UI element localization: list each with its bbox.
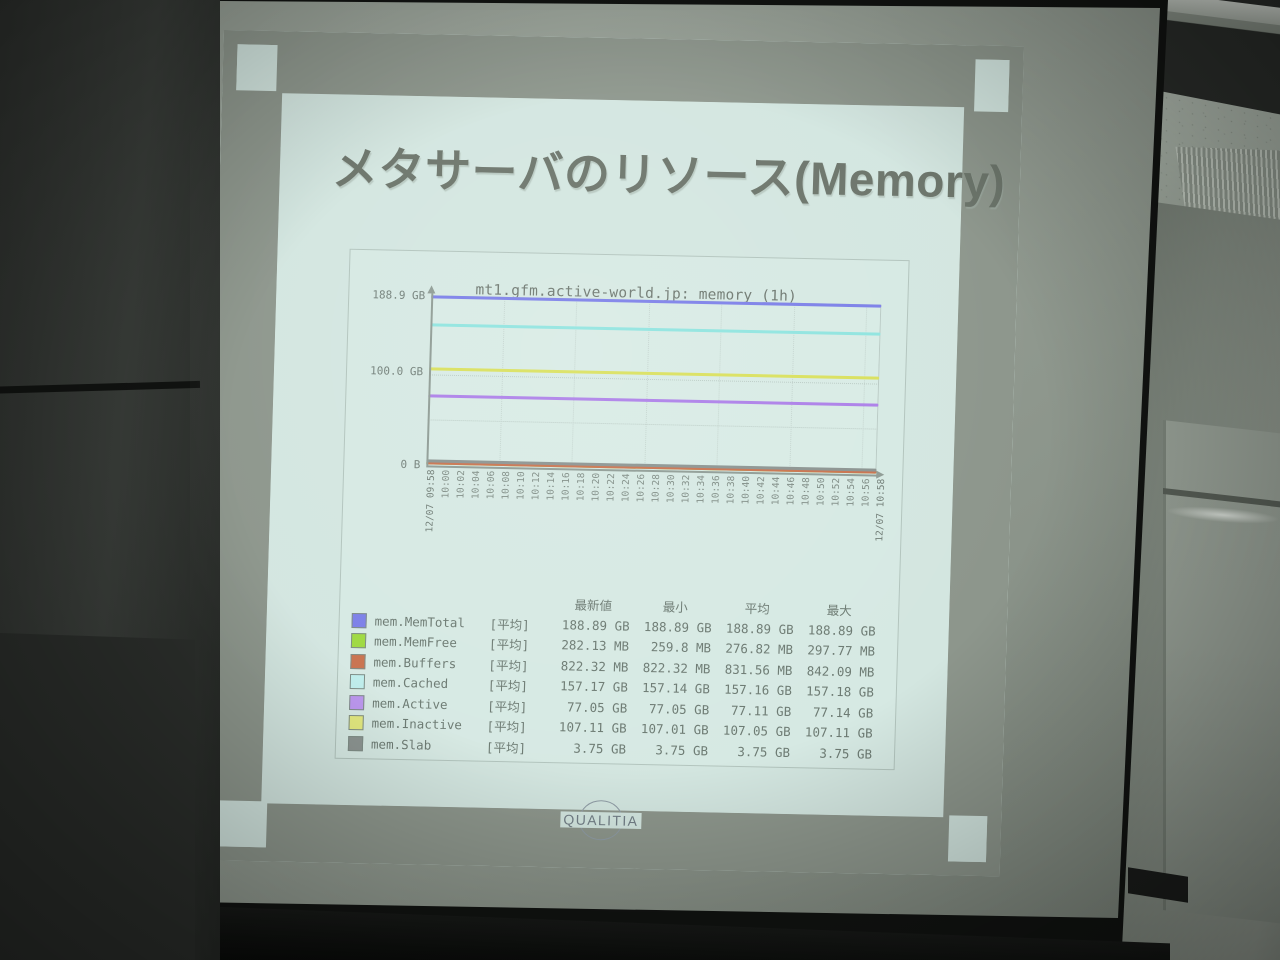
legend-aggregation-label: [平均] [486,716,549,736]
column-header-latest: 最新値 [552,594,635,615]
x-tick-label: 10:02 [455,470,467,499]
legend-series-name: mem.Cached [373,675,488,692]
legend-series-name: mem.Slab [371,736,486,753]
chart-panel: mt1.gfm.active-world.jp: memory (1h) 188… [335,249,910,770]
legend-value-latest: 77.05 GB [549,699,631,716]
legend-value-max: 188.89 GB [797,622,879,639]
legend-aggregation-label: [平均] [489,614,552,634]
x-tick-label: 10:56 [860,478,872,507]
x-axis-arrow-icon [876,471,884,479]
x-tick-label: 12/07 09:58 [424,469,437,532]
legend-value-min: 77.05 GB [631,701,713,718]
y-tick-label: 188.9 GB [372,288,425,302]
x-tick-label: 10:30 [665,474,677,503]
legend-aggregation-label: [平均] [486,737,549,757]
x-tick-label: 10:08 [500,471,512,500]
legend-color-swatch [351,613,366,628]
x-tick-label: 10:28 [650,474,662,503]
x-tick-label: 10:12 [530,472,542,501]
left-wall-panel [0,632,195,960]
x-tick-label: 10:06 [485,471,497,500]
x-tick-label: 10:00 [440,470,452,499]
x-tick-label: 10:40 [740,476,752,505]
plot-background [426,296,880,472]
legend-color-swatch [350,674,365,689]
x-tick-label: 10:14 [545,472,557,501]
x-tick-label: 10:46 [785,477,797,506]
legend-value-max: 77.14 GB [795,704,877,721]
corner-bracket-bottom-left-icon [214,800,267,847]
x-tick-label: 10:44 [770,476,782,505]
y-tick-label: 100.0 GB [370,364,423,378]
x-tick-label: 10:10 [515,471,527,500]
legend-value-max: 297.77 MB [797,642,879,659]
x-tick-label: 10:18 [575,472,587,501]
legend-value-avg: 276.82 MB [715,641,797,658]
column-header-avg: 平均 [716,597,799,618]
legend-value-min: 157.14 GB [632,680,714,697]
x-tick-label: 10:32 [680,475,692,504]
corner-bracket-top-left-icon [236,44,277,91]
legend-value-max: 3.75 GB [794,745,876,762]
legend-value-max: 842.09 MB [796,663,878,680]
legend-series-name: mem.Inactive [371,716,486,733]
column-header-max: 最大 [798,599,881,620]
page-title: メタサーバのリソース(Memory) [331,132,973,211]
legend-value-min: 822.32 MB [632,660,714,677]
legend-aggregation-label: [平均] [488,675,551,695]
x-tick-label: 10:26 [635,474,647,503]
x-tick-label: 10:36 [710,475,722,504]
legend-color-swatch [348,715,363,730]
legend-value-min: 3.75 GB [630,742,712,759]
legend-value-min: 259.8 MB [633,639,715,656]
legend-value-min: 107.01 GB [630,721,712,738]
legend-value-avg: 107.05 GB [712,723,794,740]
legend-color-swatch [348,736,363,751]
legend-aggregation-label: [平均] [489,634,552,654]
legend-value-latest: 188.89 GB [551,617,633,634]
x-tick-label: 10:04 [470,470,482,499]
x-tick-label: 10:22 [605,473,617,502]
x-tick-label: 10:54 [845,478,857,507]
legend-value-latest: 822.32 MB [550,658,632,675]
legend-table: 最新値 最小 平均 最大 mem.MemTotal[平均]188.89 GB18… [348,590,881,764]
legend-color-swatch [350,654,365,669]
y-axis-labels: 188.9 GB 100.0 GB 0 B [352,282,426,483]
legend-value-avg: 77.11 GB [713,702,795,719]
legend-series-name: mem.Buffers [373,654,488,671]
legend-value-latest: 107.11 GB [548,719,630,736]
legend-color-swatch [349,695,364,710]
legend-value-max: 107.11 GB [794,724,876,741]
legend-value-latest: 157.17 GB [550,678,632,695]
logo-text: QUALITIA [560,811,641,829]
x-tick-label: 10:34 [695,475,707,504]
legend-series-name: mem.MemTotal [374,613,489,630]
legend-series-name: mem.MemFree [374,634,489,651]
x-tick-label: 10:52 [830,478,842,507]
room-photo: メタサーバのリソース(Memory) mt1.gfm.active-world.… [0,0,1280,960]
legend-value-latest: 282.13 MB [551,637,633,654]
y-tick-label: 0 B [400,458,420,471]
column-header-min: 最小 [634,596,717,617]
x-tick-label: 12/07 10:58 [874,479,887,542]
legend-value-max: 157.18 GB [796,683,878,700]
x-tick-label: 10:16 [560,472,572,501]
legend-aggregation-label: [平均] [488,655,551,675]
legend-value-avg: 188.89 GB [715,620,797,637]
corner-bracket-top-right-icon [974,59,1010,112]
plot-area [426,295,881,472]
x-tick-label: 10:50 [815,477,827,506]
x-axis-labels: 12/07 09:5810:0010:0210:0410:0610:0810:1… [423,469,886,588]
legend-value-latest: 3.75 GB [548,740,630,757]
memory-line-chart: mt1.gfm.active-world.jp: memory (1h) 188… [349,282,902,593]
x-tick-label: 10:42 [755,476,767,505]
x-tick-label: 10:48 [800,477,812,506]
legend-value-avg: 157.16 GB [714,682,796,699]
y-axis-arrow-icon [427,285,435,293]
x-tick-label: 10:24 [620,473,632,502]
legend-value-min: 188.89 GB [633,619,715,636]
x-tick-label: 10:20 [590,473,602,502]
qualitia-logo: QUALITIA [545,799,656,843]
legend-value-avg: 3.75 GB [712,743,794,760]
legend-color-swatch [351,633,366,648]
projected-slide: メタサーバのリソース(Memory) mt1.gfm.active-world.… [198,30,1064,927]
legend-aggregation-label: [平均] [487,696,550,716]
corner-bracket-bottom-right-icon [948,815,987,862]
legend-series-name: mem.Active [372,695,487,712]
legend-value-avg: 831.56 MB [714,661,796,678]
x-tick-label: 10:38 [725,476,737,505]
